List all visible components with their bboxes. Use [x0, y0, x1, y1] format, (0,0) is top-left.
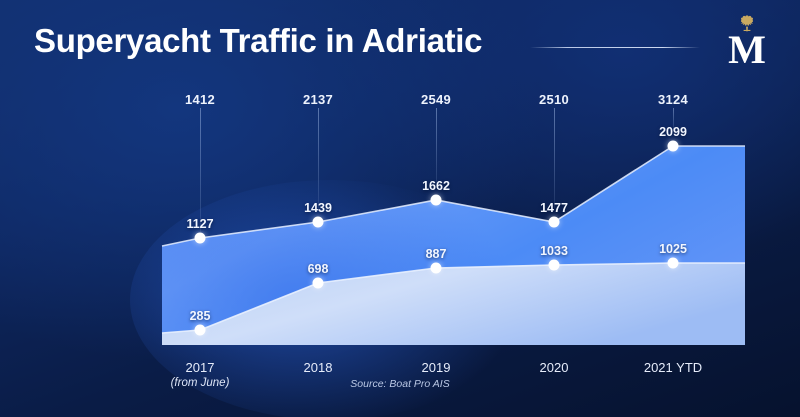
data-point-marker[interactable] — [313, 217, 324, 228]
year-tick: 2020 — [540, 360, 569, 375]
data-point-marker[interactable] — [431, 195, 442, 206]
low-season-value: 285 — [190, 309, 211, 323]
year-tick: 2019 — [422, 360, 451, 375]
data-point-marker[interactable] — [668, 141, 679, 152]
infographic-canvas: Superyacht Traffic in Adriatic M — [0, 0, 800, 417]
low-season-value: 887 — [426, 247, 447, 261]
high-season-value: 1439 — [304, 201, 332, 215]
row-label-gutter: OVERALL TRAFFIC HIGH SEASON (MAY-SEP) LO… — [0, 0, 158, 417]
high-season-value: 1662 — [422, 179, 450, 193]
data-point-marker[interactable] — [195, 233, 206, 244]
data-point-marker[interactable] — [668, 258, 679, 269]
high-season-value: 1127 — [186, 217, 213, 231]
low-season-value: 698 — [308, 262, 329, 276]
high-season-value: 2099 — [659, 125, 687, 139]
data-point-marker[interactable] — [313, 278, 324, 289]
data-point-marker[interactable] — [431, 263, 442, 274]
year-tick: 2017 (from June) — [171, 360, 230, 389]
high-season-value: 1477 — [540, 201, 568, 215]
year-tick-label: 2017 — [186, 360, 215, 375]
data-point-marker[interactable] — [549, 260, 560, 271]
year-tick-sub: (from June) — [171, 377, 230, 389]
year-tick: 2018 — [304, 360, 333, 375]
low-season-value: 1033 — [540, 244, 568, 258]
source-attribution: Source: Boat Pro AIS — [350, 378, 449, 390]
year-tick: 2021 YTD — [644, 360, 702, 375]
data-point-marker[interactable] — [195, 325, 206, 336]
low-season-value: 1025 — [659, 242, 687, 256]
data-point-marker[interactable] — [549, 217, 560, 228]
